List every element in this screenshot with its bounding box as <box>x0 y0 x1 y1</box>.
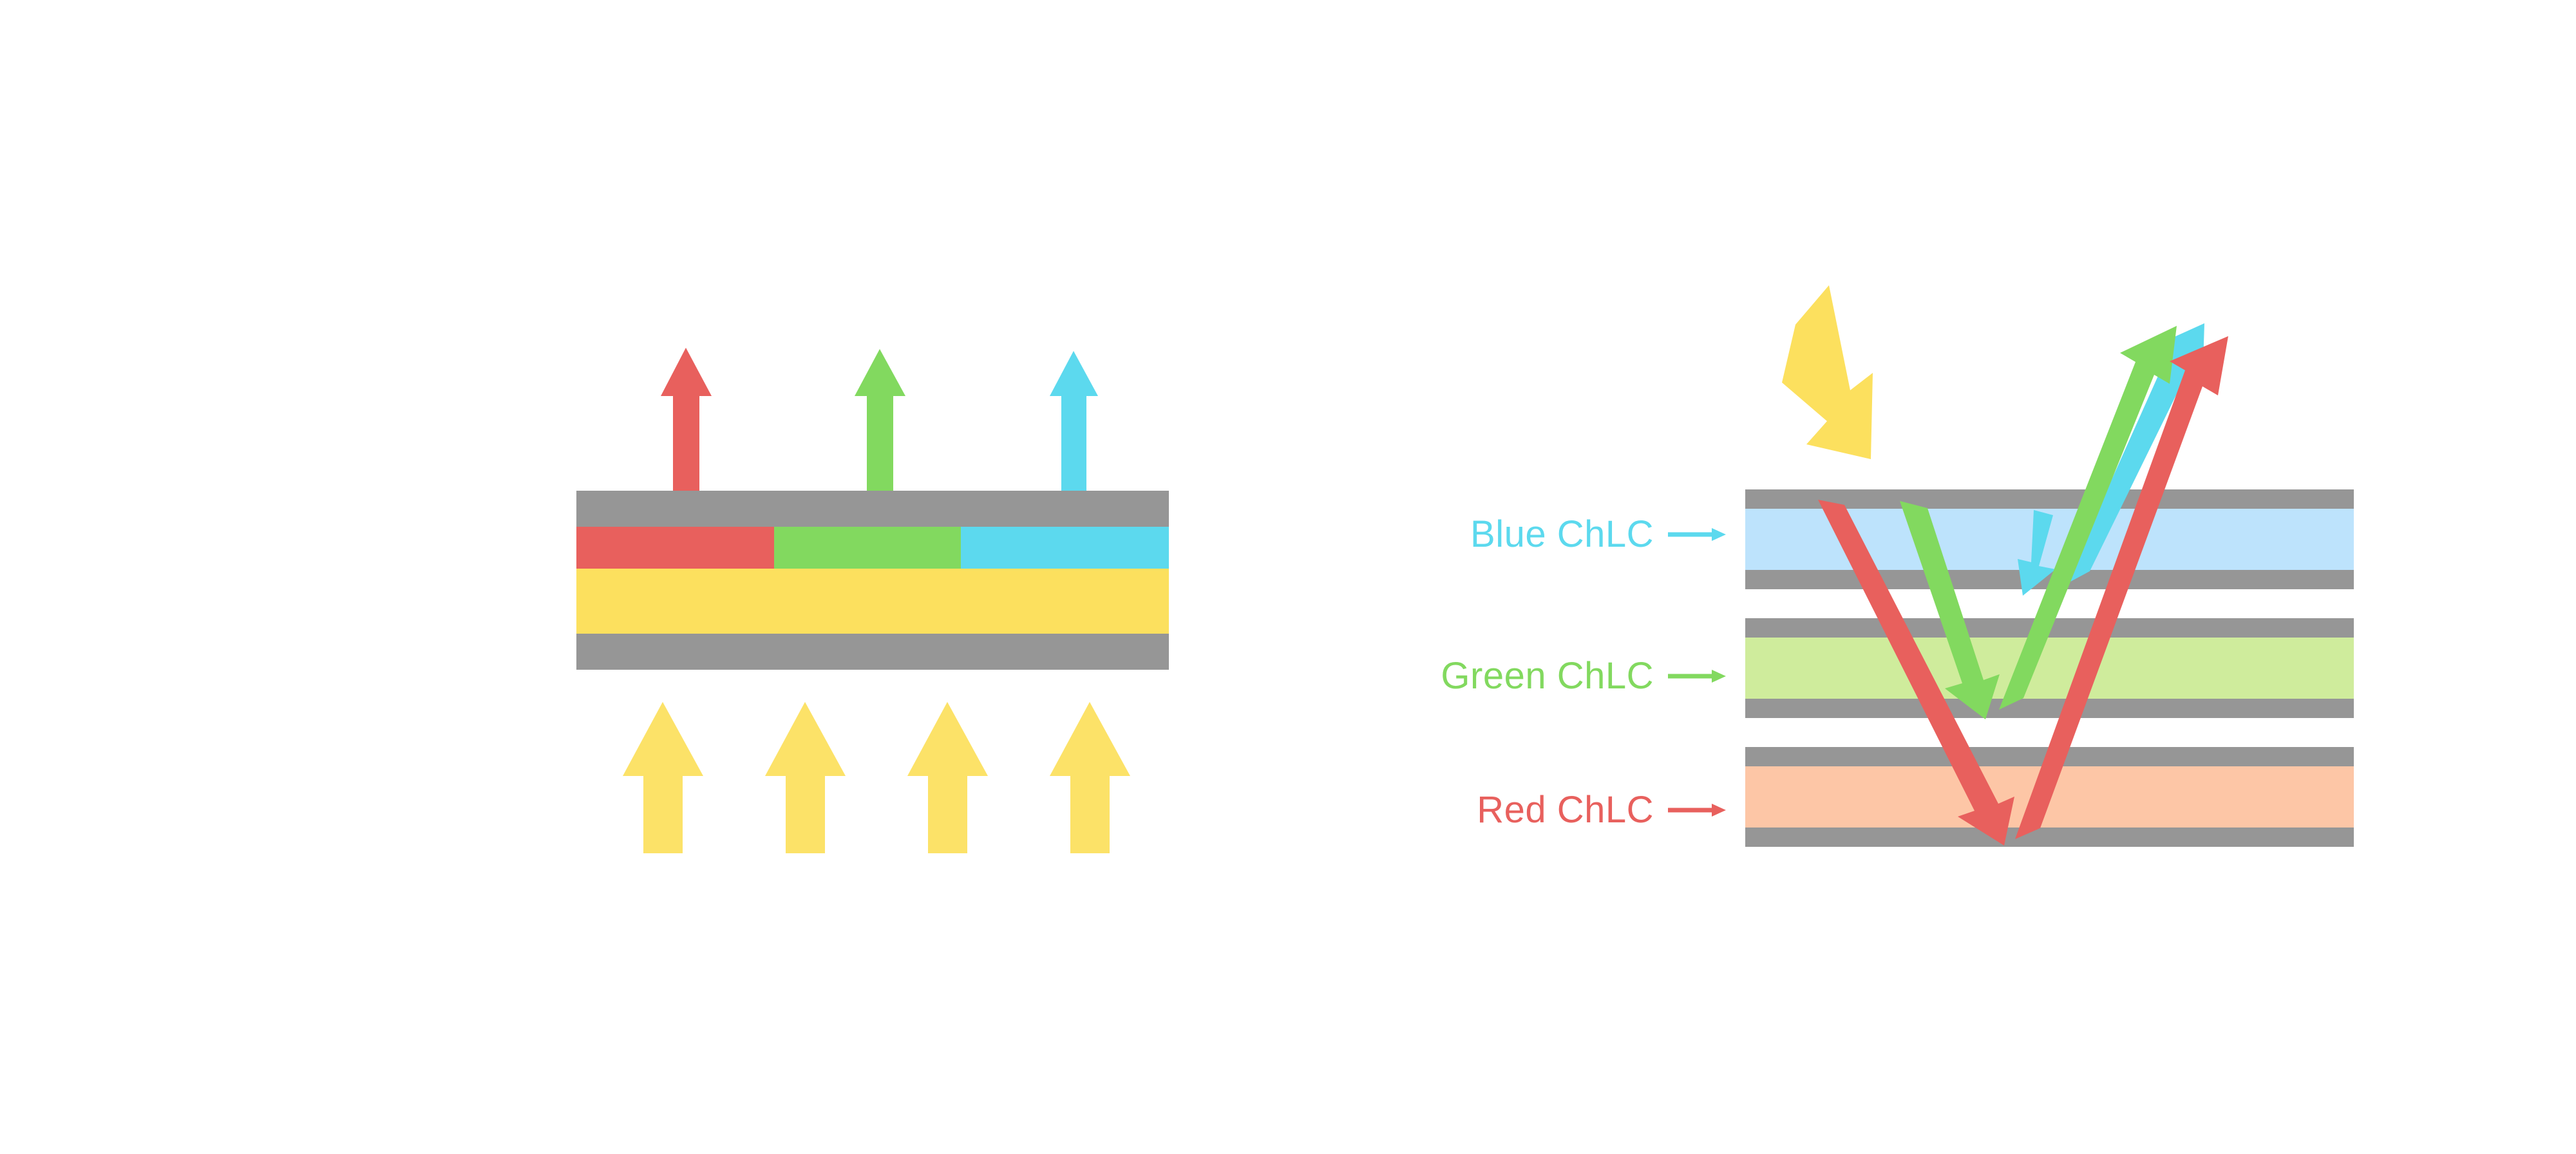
green-chlc-label-row: Green ChLC <box>1327 650 1726 702</box>
red-chlc-label-row: Red ChLC <box>1327 784 1726 836</box>
blue-cell-top-electrode <box>1745 489 2354 509</box>
green-label-arrow-icon <box>1668 665 1726 687</box>
red-label-arrow-icon <box>1668 799 1726 821</box>
backlight-arrow <box>1050 702 1130 853</box>
blue-chlc-label-row: Blue ChLC <box>1327 509 1726 560</box>
backlight-arrow <box>765 702 846 853</box>
left-panel <box>0 0 1288 1154</box>
red-chlc-label: Red ChLC <box>1477 791 1654 829</box>
red-cell-top-electrode <box>1745 747 2354 766</box>
top-electrode <box>576 491 1169 527</box>
green-chlc-cell <box>1745 618 2354 718</box>
blue-cell-bottom-electrode <box>1745 570 2354 589</box>
right-panel: Blue ChLC Green ChLC Red ChLC <box>1288 0 2576 1154</box>
red-cell-bottom-electrode <box>1745 828 2354 847</box>
bottom-electrode <box>576 634 1169 670</box>
red-filter <box>576 527 774 569</box>
blue-chlc-cell <box>1745 489 2354 589</box>
color-filter <box>576 527 1169 569</box>
green-cell-bottom-electrode <box>1745 699 2354 718</box>
green-cell-top-electrode <box>1745 618 2354 638</box>
backlight-arrow <box>623 702 703 853</box>
red-chlc-cell <box>1745 747 2354 847</box>
blue-chlc-label: Blue ChLC <box>1470 516 1654 553</box>
green-lc-layer <box>1745 638 2354 699</box>
diagram-canvas: Blue ChLC Green ChLC Red ChLC <box>0 0 2576 1154</box>
blue-lc-layer <box>1745 509 2354 570</box>
emitted-green-ray <box>855 349 905 496</box>
green-filter <box>774 527 961 569</box>
chlc-stack <box>1745 489 2354 863</box>
red-lc-layer <box>1745 766 2354 828</box>
backlight-layer <box>576 569 1169 634</box>
green-chlc-label: Green ChLC <box>1441 657 1654 695</box>
blue-filter <box>961 527 1169 569</box>
backlight-arrow <box>907 702 988 853</box>
emitted-blue-ray <box>1050 351 1098 496</box>
blue-label-arrow-icon <box>1668 524 1726 545</box>
left-stack <box>576 491 1169 684</box>
emitted-red-ray <box>661 348 712 496</box>
